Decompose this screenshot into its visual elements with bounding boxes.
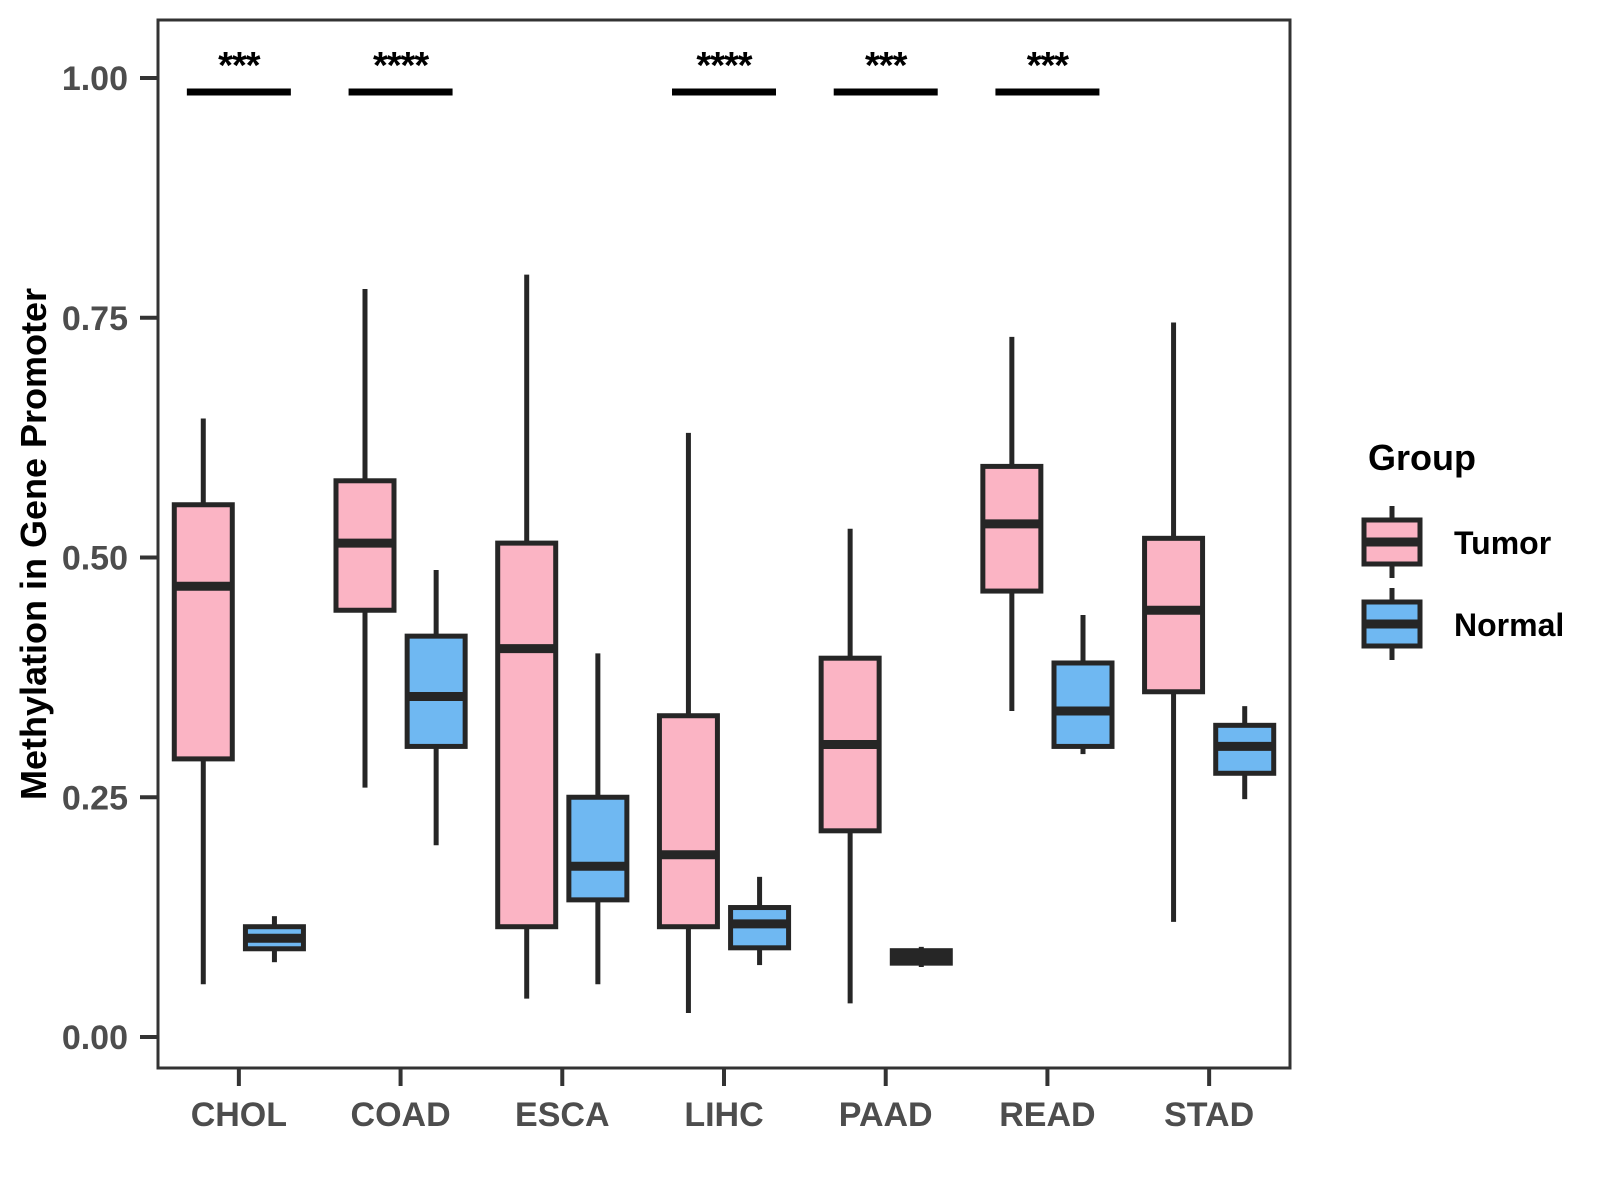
significance-stars-read: *** (1027, 45, 1070, 87)
y-tick-label: 0.00 (62, 1019, 128, 1057)
box-rect (1054, 663, 1112, 746)
box-paad-tumor (820, 529, 880, 1004)
y-tick-label: 1.00 (62, 60, 128, 98)
box-rect (983, 466, 1041, 591)
legend-item-tumor[interactable]: Tumor (1363, 506, 1551, 578)
significance-stars-chol: *** (218, 45, 261, 87)
y-tick-label: 0.50 (62, 540, 128, 578)
x-tick-label-coad: COAD (351, 1096, 451, 1134)
box-coad-tumor (335, 289, 395, 788)
y-axis-title: Methylation in Gene Promoter (13, 288, 54, 800)
box-rect (174, 505, 232, 759)
x-tick-label-chol: CHOL (191, 1096, 287, 1134)
legend-label-tumor: Tumor (1454, 525, 1551, 561)
significance-stars-coad: **** (373, 45, 429, 87)
box-stad-normal (1215, 706, 1275, 799)
y-tick-label: 0.75 (62, 300, 128, 338)
box-lihc-tumor (658, 433, 718, 1013)
box-lihc-normal (730, 877, 790, 965)
x-tick-label-esca: ESCA (515, 1096, 609, 1134)
box-esca-tumor (497, 275, 557, 999)
plot-panel-border (158, 20, 1290, 1068)
box-rect (1145, 538, 1203, 691)
legend-label-normal: Normal (1454, 607, 1564, 643)
box-rect (498, 543, 556, 927)
box-chol-normal (244, 916, 304, 962)
box-esca-normal (568, 653, 628, 984)
x-tick-label-lihc: LIHC (684, 1096, 763, 1134)
box-coad-normal (406, 570, 466, 845)
box-rect (659, 716, 717, 927)
significance-stars-paad: *** (865, 45, 908, 87)
boxplot-svg: 0.000.250.500.751.00CHOLCOADESCALIHCPAAD… (0, 0, 1600, 1200)
box-rect (569, 797, 627, 900)
x-tick-label-stad: STAD (1164, 1096, 1254, 1134)
box-read-tumor (982, 337, 1042, 711)
x-tick-label-paad: PAAD (839, 1096, 933, 1134)
box-read-normal (1053, 615, 1113, 754)
x-tick-label-read: READ (999, 1096, 1095, 1134)
box-chol-tumor (173, 418, 233, 984)
box-paad-normal (891, 947, 951, 967)
boxplot-figure: 0.000.250.500.751.00CHOLCOADESCALIHCPAAD… (0, 0, 1600, 1200)
significance-stars-lihc: **** (696, 45, 752, 87)
y-tick-label: 0.25 (62, 779, 128, 817)
box-stad-tumor (1144, 323, 1204, 922)
box-rect (407, 636, 465, 746)
legend-title: Group (1368, 437, 1476, 478)
legend-item-normal[interactable]: Normal (1363, 588, 1564, 660)
